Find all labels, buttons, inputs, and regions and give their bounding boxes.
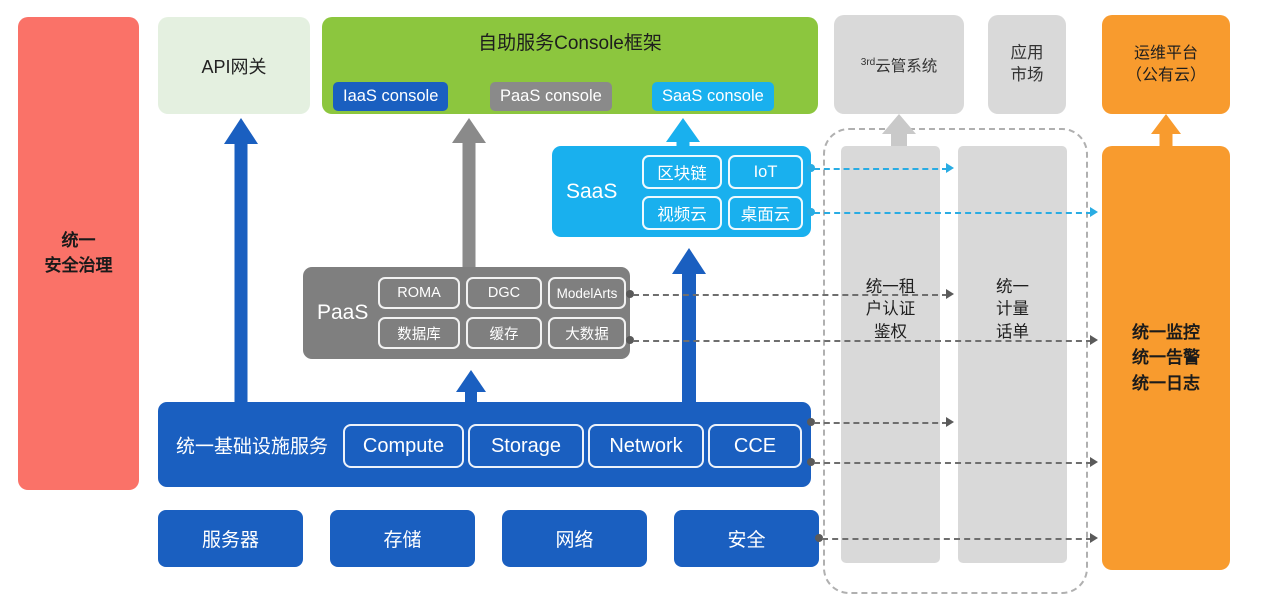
- saas-chip-blockchain[interactable]: 区块链: [642, 155, 722, 189]
- superscript-rd: 3rd: [861, 56, 876, 67]
- unified-metering-billing-column: 统一 计量 话单: [958, 146, 1067, 563]
- bottom-box-server-label: 服务器: [202, 525, 259, 552]
- paas-console-chip[interactable]: PaaS console: [490, 82, 612, 111]
- arrow-saas-to-console: [666, 118, 700, 146]
- paas-chip-database-label: 数据库: [397, 323, 441, 344]
- paas-chip-database[interactable]: 数据库: [378, 317, 460, 349]
- dashed-line-paas-to-ops: [633, 340, 1092, 342]
- paas-chip-dgc[interactable]: DGC: [466, 277, 542, 309]
- iaas-chip-cce-label: CCE: [734, 435, 776, 458]
- unified-tenant-auth-column: 统一租 户认证 鉴权: [841, 146, 940, 563]
- paas-chip-dgc-label: DGC: [488, 285, 520, 301]
- dashed-arrowhead-paas-to-ops: [1090, 335, 1098, 345]
- paas-chip-bigdata-label: 大数据: [565, 323, 609, 344]
- arrow-paas-to-console: [452, 118, 486, 267]
- application-market-label: 应用 市场: [1011, 43, 1044, 86]
- third-party-cloud-management-label: 3rd云管系统: [861, 54, 938, 76]
- iaas-chip-network-label: Network: [609, 435, 682, 458]
- bottom-box-security[interactable]: 安全: [674, 510, 819, 567]
- iaas-chip-network[interactable]: Network: [588, 424, 704, 468]
- iaas-chip-storage[interactable]: Storage: [468, 424, 584, 468]
- dashed-arrowhead-iaas-to-ops: [1090, 457, 1098, 467]
- dashed-arrowhead-saas-to-ops: [1090, 207, 1098, 217]
- dashed-line-iaas-to-ops: [814, 462, 1092, 464]
- saas-layer-box: SaaS 区块链 IoT 视频云 桌面云: [552, 146, 811, 237]
- bottom-box-security-label: 安全: [727, 525, 765, 552]
- ops-platform-public-cloud-label: 运维平台 （公有云）: [1126, 43, 1206, 86]
- arrow-iaas-to-api-gateway: [224, 118, 258, 402]
- iaas-chip-compute[interactable]: Compute: [343, 424, 464, 468]
- self-service-console-frame: 自助服务Console框架 IaaS console PaaS console …: [322, 17, 818, 114]
- paas-chip-modelarts[interactable]: ModelArts: [548, 277, 626, 309]
- paas-chip-cache[interactable]: 缓存: [466, 317, 542, 349]
- unified-monitoring-label: 统一监控 统一告警 统一日志: [1132, 320, 1200, 397]
- arrow-shared-to-third-cloud: [882, 114, 916, 146]
- dashed-line-saas-to-ops: [814, 212, 1092, 214]
- unified-security-governance-panel: 统一 安全治理: [18, 17, 139, 490]
- paas-chip-modelarts-label: ModelArts: [557, 286, 618, 301]
- architecture-diagram: 统一 安全治理 API网关 自助服务Console框架 IaaS console…: [0, 0, 1265, 605]
- arrow-iaas-to-saas: [672, 248, 706, 402]
- saas-chip-desktop-cloud-label: 桌面云: [741, 201, 791, 225]
- dashed-line-bottom-to-ops: [822, 538, 1092, 540]
- unified-tenant-auth-label: 统一租 户认证 鉴权: [841, 276, 940, 343]
- iaas-layer-box: 统一基础设施服务 Compute Storage Network CCE: [158, 402, 811, 487]
- dashed-line-paas-to-auth: [633, 294, 948, 296]
- paas-console-label: PaaS console: [500, 87, 602, 106]
- bottom-box-storage-label: 存储: [383, 525, 421, 552]
- dashed-arrowhead-saas-to-auth: [946, 163, 954, 173]
- dashed-line-saas-to-auth: [814, 168, 948, 170]
- dashed-arrowhead-bottom-to-ops: [1090, 533, 1098, 543]
- unified-monitoring-panel: 统一监控 统一告警 统一日志: [1102, 146, 1230, 570]
- third-cloud-main-label: 云管系统: [875, 58, 937, 75]
- dashed-line-iaas-to-auth: [814, 422, 948, 424]
- saas-chip-iot-label: IoT: [754, 163, 778, 182]
- arrow-ops-panel-to-ops-top: [1151, 114, 1181, 146]
- application-market-box: 应用 市场: [988, 15, 1066, 114]
- saas-chip-video-cloud-label: 视频云: [657, 201, 707, 225]
- saas-chip-desktop-cloud[interactable]: 桌面云: [728, 196, 803, 230]
- paas-layer-label: PaaS: [317, 301, 368, 325]
- console-frame-title: 自助服务Console框架: [322, 28, 818, 55]
- iaas-console-chip[interactable]: IaaS console: [333, 82, 448, 111]
- bottom-box-storage[interactable]: 存储: [330, 510, 475, 567]
- paas-layer-box: PaaS ROMA DGC ModelArts 数据库 缓存 大数据: [303, 267, 630, 359]
- iaas-console-label: IaaS console: [343, 87, 438, 106]
- saas-chip-blockchain-label: 区块链: [657, 160, 707, 184]
- iaas-chip-cce[interactable]: CCE: [708, 424, 802, 468]
- bottom-box-server[interactable]: 服务器: [158, 510, 303, 567]
- paas-chip-bigdata[interactable]: 大数据: [548, 317, 626, 349]
- saas-chip-video-cloud[interactable]: 视频云: [642, 196, 722, 230]
- dashed-arrowhead-iaas-to-auth: [946, 417, 954, 427]
- iaas-chip-compute-label: Compute: [363, 435, 444, 458]
- api-gateway-label: API网关: [201, 53, 266, 79]
- unified-metering-billing-label: 统一 计量 话单: [958, 276, 1067, 343]
- saas-chip-iot[interactable]: IoT: [728, 155, 803, 189]
- api-gateway-box: API网关: [158, 17, 310, 114]
- saas-console-label: SaaS console: [662, 87, 764, 106]
- arrow-iaas-to-paas: [456, 370, 486, 402]
- third-party-cloud-management-box: 3rd云管系统: [834, 15, 964, 114]
- saas-console-chip[interactable]: SaaS console: [652, 82, 774, 111]
- ops-platform-public-cloud-box: 运维平台 （公有云）: [1102, 15, 1230, 114]
- paas-chip-roma-label: ROMA: [397, 285, 441, 301]
- paas-chip-cache-label: 缓存: [490, 323, 519, 344]
- bottom-box-network-label: 网络: [555, 525, 593, 552]
- paas-chip-roma[interactable]: ROMA: [378, 277, 460, 309]
- iaas-layer-label: 统一基础设施服务: [176, 431, 328, 458]
- dashed-arrowhead-paas-to-auth: [946, 289, 954, 299]
- bottom-box-network[interactable]: 网络: [502, 510, 647, 567]
- saas-layer-label: SaaS: [566, 180, 617, 204]
- iaas-chip-storage-label: Storage: [491, 435, 561, 458]
- unified-security-governance-label: 统一 安全治理: [45, 229, 113, 278]
